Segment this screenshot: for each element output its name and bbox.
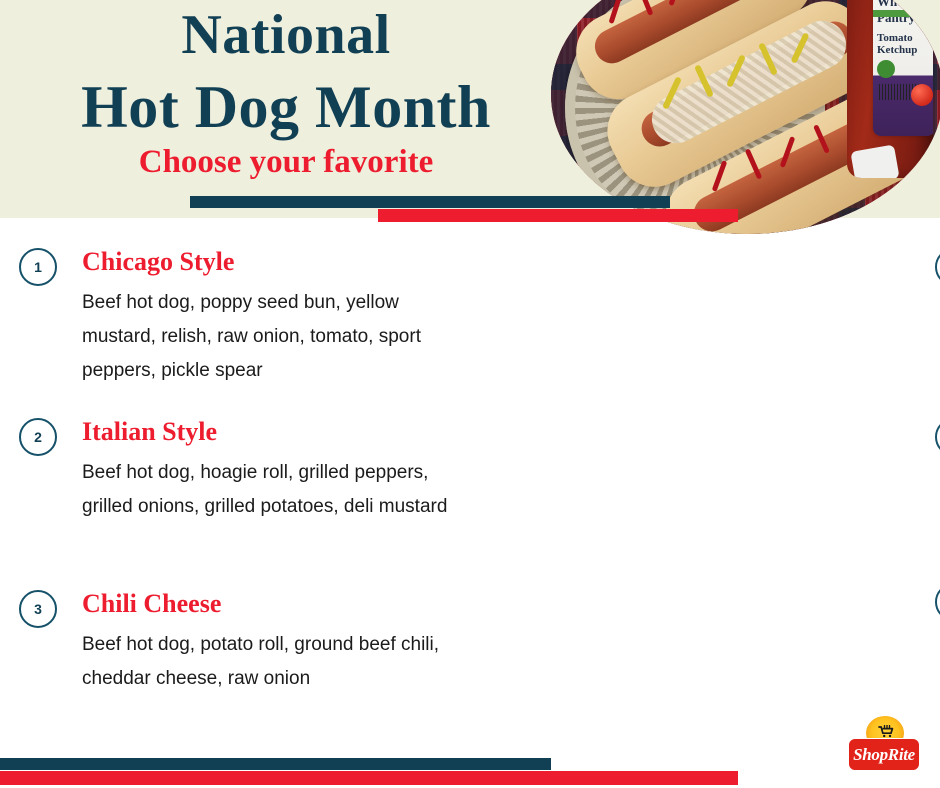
item-number-badge: 2 — [19, 418, 57, 456]
page-title-line-1: National — [0, 4, 572, 66]
list-column-left: 1 Chicago Style Beef hot dog, poppy seed… — [0, 218, 470, 718]
hot-dog-style-list: 1 Chicago Style Beef hot dog, poppy seed… — [0, 218, 940, 718]
item-description: Beef hot dog, poppy seed bun, yellow mus… — [82, 286, 470, 388]
ketchup-bottle: Wholesome Pantry Tomato Ketchup — [847, 0, 933, 178]
poster: National Hot Dog Month Choose your favor… — [0, 0, 940, 788]
ketchup-product-line-1: Tomato — [877, 32, 933, 44]
item-title: Chicago Style — [82, 246, 234, 278]
organic-seal-icon — [877, 60, 895, 78]
item-number-badge: 3 — [19, 590, 57, 628]
item-number-badge: 6 — [935, 583, 940, 621]
footer-rule-red — [0, 771, 738, 785]
label-green-stripe — [873, 10, 933, 17]
ketchup-bottle-label: Wholesome Pantry Tomato Ketchup — [873, 0, 933, 136]
list-column-right: 4 New York Style Beef hot dog, classic r… — [460, 218, 930, 718]
ketchup-product-line-2: Ketchup — [877, 44, 933, 56]
item-number-badge: 5 — [935, 418, 940, 456]
shoprite-logo[interactable]: ShopRite — [848, 716, 920, 778]
title-block: National Hot Dog Month Choose your favor… — [0, 0, 572, 218]
item-number-badge: 1 — [19, 248, 57, 286]
item-description: Beef hot dog, hoagie roll, grilled peppe… — [82, 456, 470, 524]
bottle-cap — [850, 144, 899, 178]
page-title-line-2: Hot Dog Month — [0, 72, 572, 142]
shopping-cart-icon — [878, 725, 894, 738]
item-title: Italian Style — [82, 416, 217, 448]
page-subtitle: Choose your favorite — [0, 142, 572, 182]
item-number-badge: 4 — [935, 248, 940, 286]
item-title: Chili Cheese — [82, 588, 221, 620]
footer-rule-navy — [0, 758, 551, 770]
item-description: Beef hot dog, potato roll, ground beef c… — [82, 628, 470, 696]
logo-wordmark: ShopRite — [853, 745, 915, 765]
logo-banner: ShopRite — [848, 738, 920, 771]
tomato-icon — [911, 84, 933, 106]
header-rule-navy — [190, 196, 670, 208]
